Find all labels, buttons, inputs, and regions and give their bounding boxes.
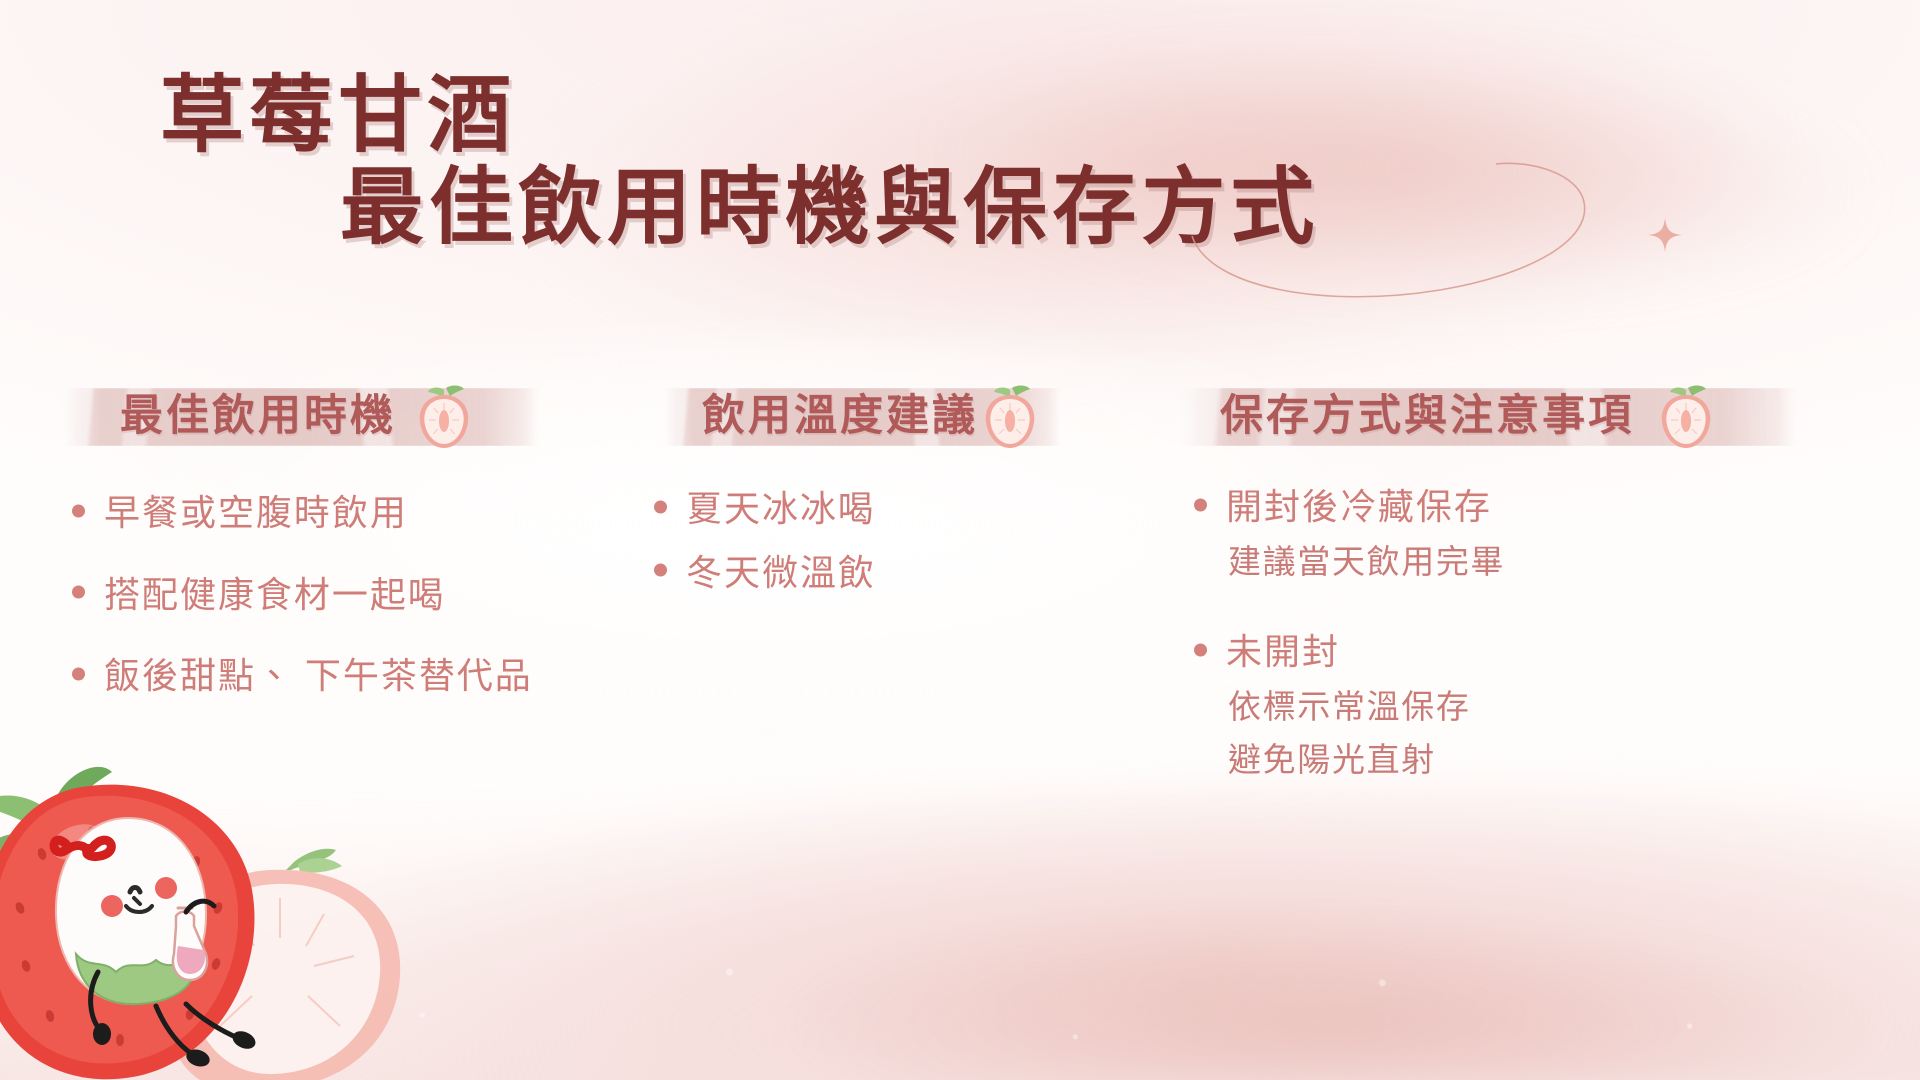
- bullet-dot-icon: [1194, 643, 1207, 656]
- section-header-temperature: 飲用溫度建議: [640, 380, 1070, 460]
- list-item-text: 開封後冷藏保存: [1226, 487, 1492, 527]
- bullet-dot-icon: [1194, 498, 1207, 511]
- bullet-list-temperature: 夏天冰冰喝 冬天微溫飲: [640, 486, 1070, 597]
- bullet-dot-icon: [654, 564, 667, 577]
- bullet-dot-icon: [72, 586, 85, 599]
- list-item-subtext: 建議當天飲用完畢: [1226, 542, 1830, 586]
- page-title-line-2: 最佳飲用時機與保存方式: [340, 140, 1319, 261]
- section-heading-label: 最佳飲用時機: [58, 380, 618, 454]
- strawberry-half-icon: [416, 384, 472, 450]
- strawberry-mascot-icon: [0, 758, 410, 1080]
- sparkle-icon: [1648, 218, 1682, 252]
- list-item: 早餐或空腹時飲用: [58, 490, 618, 538]
- list-item-subtext: 依標示常溫保存: [1226, 687, 1830, 731]
- list-item-text: 飯後甜點、 下午茶替代品: [104, 656, 533, 696]
- list-item-subtext-2: 避免陽光直射: [1226, 740, 1830, 784]
- list-item-text: 早餐或空腹時飲用: [104, 493, 408, 533]
- list-item: 未開封 依標示常溫保存 避免陽光直射: [1180, 629, 1830, 784]
- strawberry-half-icon: [982, 384, 1038, 450]
- bullet-list-best-timing: 早餐或空腹時飲用 搭配健康食材一起喝 飯後甜點、 下午茶替代品: [58, 490, 618, 701]
- list-item-text: 夏天冰冰喝: [686, 489, 876, 529]
- list-item: 夏天冰冰喝: [640, 486, 1070, 534]
- section-heading-label: 保存方式與注意事項: [1180, 380, 1830, 454]
- bullet-dot-icon: [72, 504, 85, 517]
- list-item: 冬天微溫飲: [640, 550, 1070, 598]
- list-item: 飯後甜點、 下午茶替代品: [58, 653, 618, 701]
- bullet-dot-icon: [72, 667, 85, 680]
- column-best-timing: 最佳飲用時機 早餐或空腹時飲用: [58, 380, 618, 735]
- poster-canvas: 草莓甘酒 最佳飲用時機與保存方式 最佳飲用時機: [0, 0, 1920, 1080]
- column-temperature: 飲用溫度建議 夏天冰冰喝: [640, 380, 1070, 613]
- list-item-text: 未開封: [1226, 632, 1340, 672]
- bullet-dot-icon: [654, 500, 667, 513]
- list-item: 搭配健康食材一起喝: [58, 572, 618, 620]
- section-header-best-timing: 最佳飲用時機: [58, 380, 618, 460]
- list-item-text: 搭配健康食材一起喝: [104, 575, 446, 615]
- list-item: 開封後冷藏保存 建議當天飲用完畢: [1180, 484, 1830, 585]
- list-item-text: 冬天微溫飲: [686, 553, 876, 593]
- column-storage: 保存方式與注意事項 開封後冷藏保存: [1180, 380, 1830, 810]
- section-header-storage: 保存方式與注意事項: [1180, 380, 1830, 460]
- bullet-list-storage: 開封後冷藏保存 建議當天飲用完畢 未開封 依標示常溫保存 避免陽光直射: [1180, 484, 1830, 784]
- strawberry-half-icon: [1658, 384, 1714, 450]
